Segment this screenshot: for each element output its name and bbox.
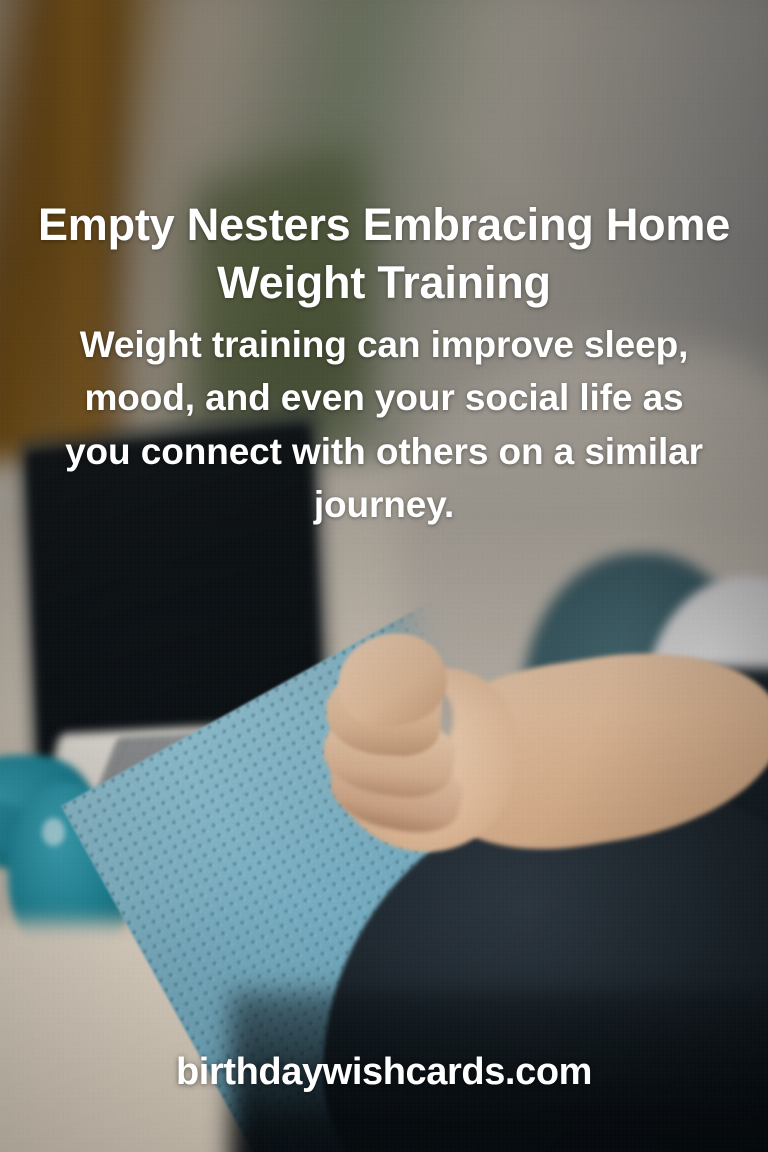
website-url: birthdaywishcards.com	[0, 1051, 768, 1094]
page-title: Empty Nesters Embracing Home Weight Trai…	[6, 196, 762, 311]
pinterest-pin-card: Empty Nesters Embracing Home Weight Trai…	[0, 0, 768, 1152]
text-overlay: Empty Nesters Embracing Home Weight Trai…	[0, 0, 768, 1152]
description-text: Weight training can improve sleep, mood,…	[60, 318, 708, 531]
